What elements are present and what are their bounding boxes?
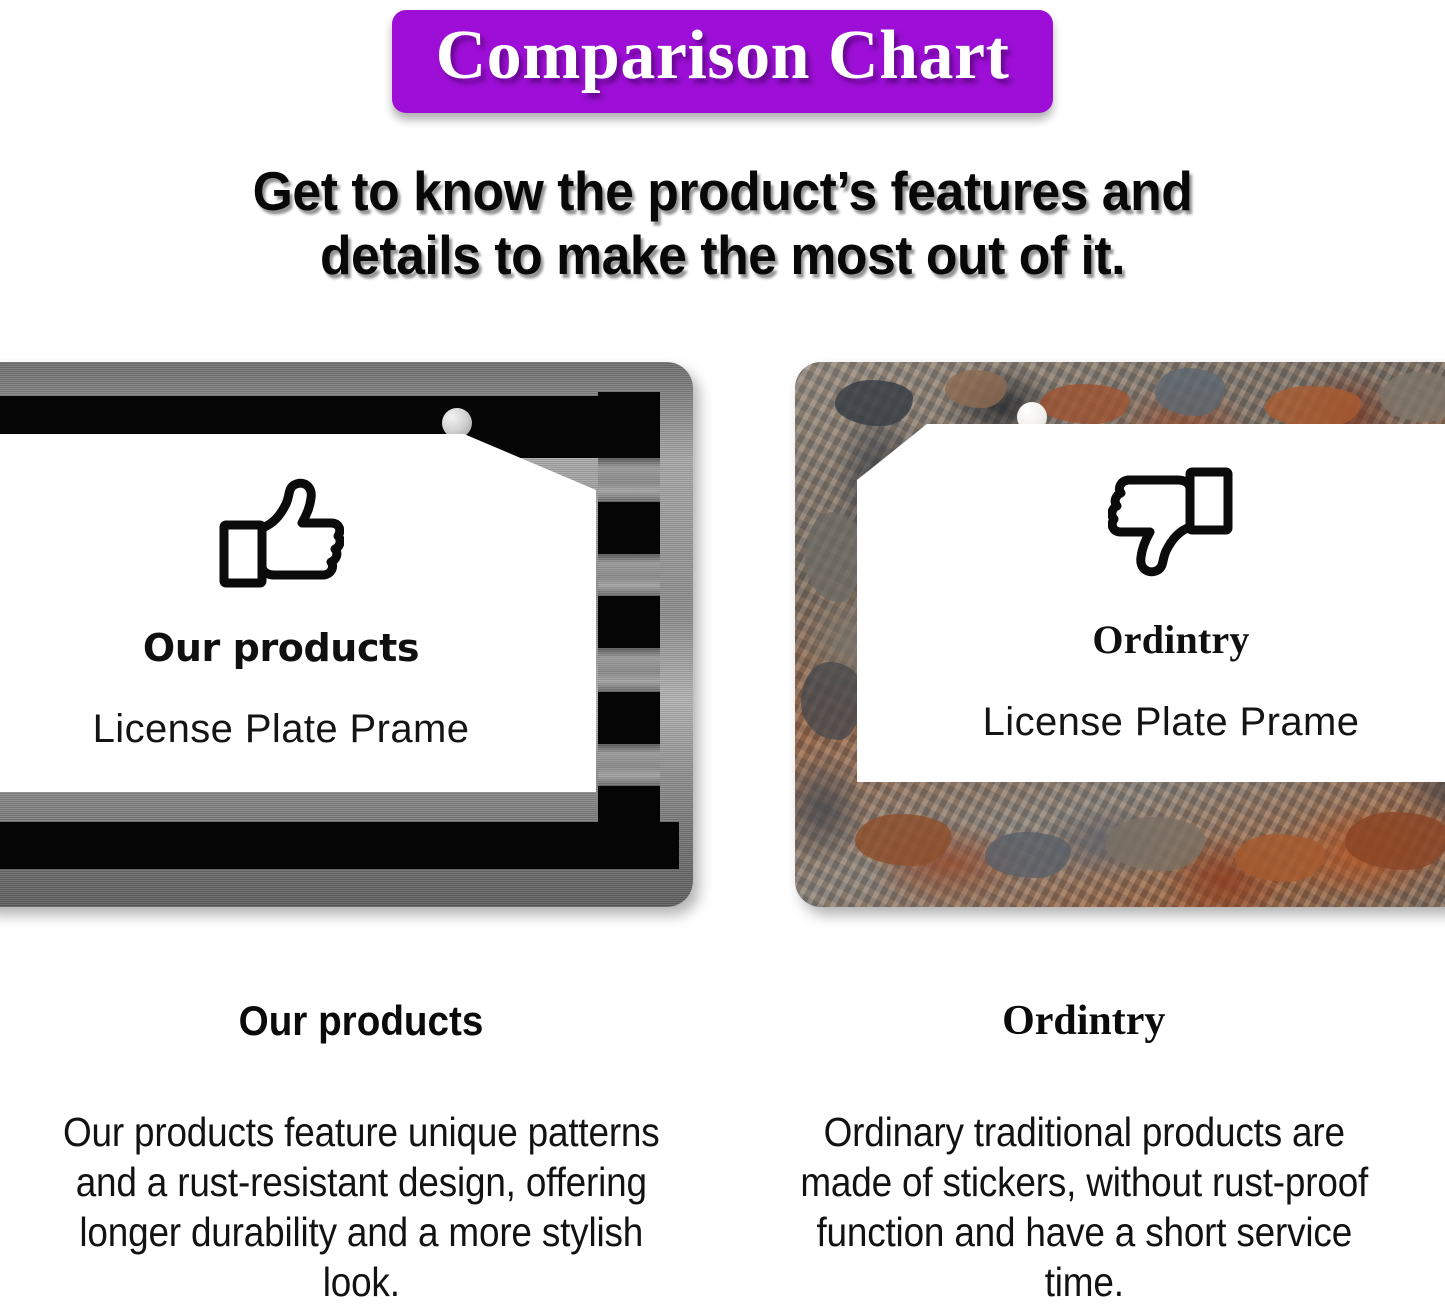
column-body-our-products: Our products feature unique patterns and… (61, 1107, 661, 1307)
thumbs-up-icon (218, 478, 344, 595)
checker-block-5 (598, 786, 660, 836)
product-frames-row: Our products License Plate Prame (0, 352, 1445, 927)
description-column-ordintry: Ordintry Ordinary traditional products a… (723, 985, 1445, 1314)
checker-metal-1 (598, 458, 660, 502)
checker-metal-2 (598, 554, 660, 596)
plate-subheading-right: License Plate Prame (983, 702, 1360, 742)
checker-block-1 (598, 392, 660, 458)
rust-fleck (805, 512, 863, 602)
subtitle-line-2: details to make the most out of it. (43, 224, 1401, 288)
plate-window-right: Ordintry License Plate Prame (857, 424, 1445, 782)
plate-right-inner: Ordintry License Plate Prame (795, 362, 1445, 907)
rust-fleck (1155, 368, 1225, 416)
plate-window-left: Our products License Plate Prame (0, 434, 596, 792)
column-heading-our-products: Our products (239, 997, 484, 1045)
page-title: Comparison Chart (436, 16, 1010, 97)
plate-window-content-left: Our products License Plate Prame (0, 434, 596, 792)
ordinary-product-plate-frame: Ordintry License Plate Prame (795, 362, 1445, 907)
column-heading-ordintry: Ordintry (751, 997, 1418, 1045)
plate-window-content-right: Ordintry License Plate Prame (857, 424, 1445, 782)
title-banner: Comparison Chart (392, 10, 1054, 113)
checker-metal-4 (598, 744, 660, 786)
bottom-black-stripe (0, 822, 679, 869)
checker-block-3 (598, 596, 660, 648)
description-column-our-products: Our products Our products feature unique… (0, 985, 723, 1314)
plate-left-inner: Our products License Plate Prame (0, 362, 693, 907)
subtitle-line-1: Get to know the product’s features and (43, 160, 1401, 224)
checker-block-2 (598, 502, 660, 554)
our-product-plate-frame: Our products License Plate Prame (0, 362, 693, 907)
description-columns: Our products Our products feature unique… (0, 985, 1445, 1314)
screw-hole-left-plate (442, 408, 472, 438)
plate-heading-right: Ordintry (1092, 620, 1249, 660)
page-subtitle: Get to know the product’s features and d… (43, 160, 1401, 288)
checker-metal-3 (598, 648, 660, 692)
rust-fleck (945, 370, 1007, 408)
plate-heading-left: Our products (143, 629, 419, 667)
checker-block-4 (598, 692, 660, 744)
plate-subheading-left: License Plate Prame (93, 709, 470, 749)
rust-fleck (801, 662, 863, 740)
column-body-ordintry: Ordinary traditional products are made o… (784, 1107, 1384, 1307)
thumbs-down-icon (1108, 465, 1234, 590)
title-banner-wrapper: Comparison Chart (0, 10, 1445, 113)
